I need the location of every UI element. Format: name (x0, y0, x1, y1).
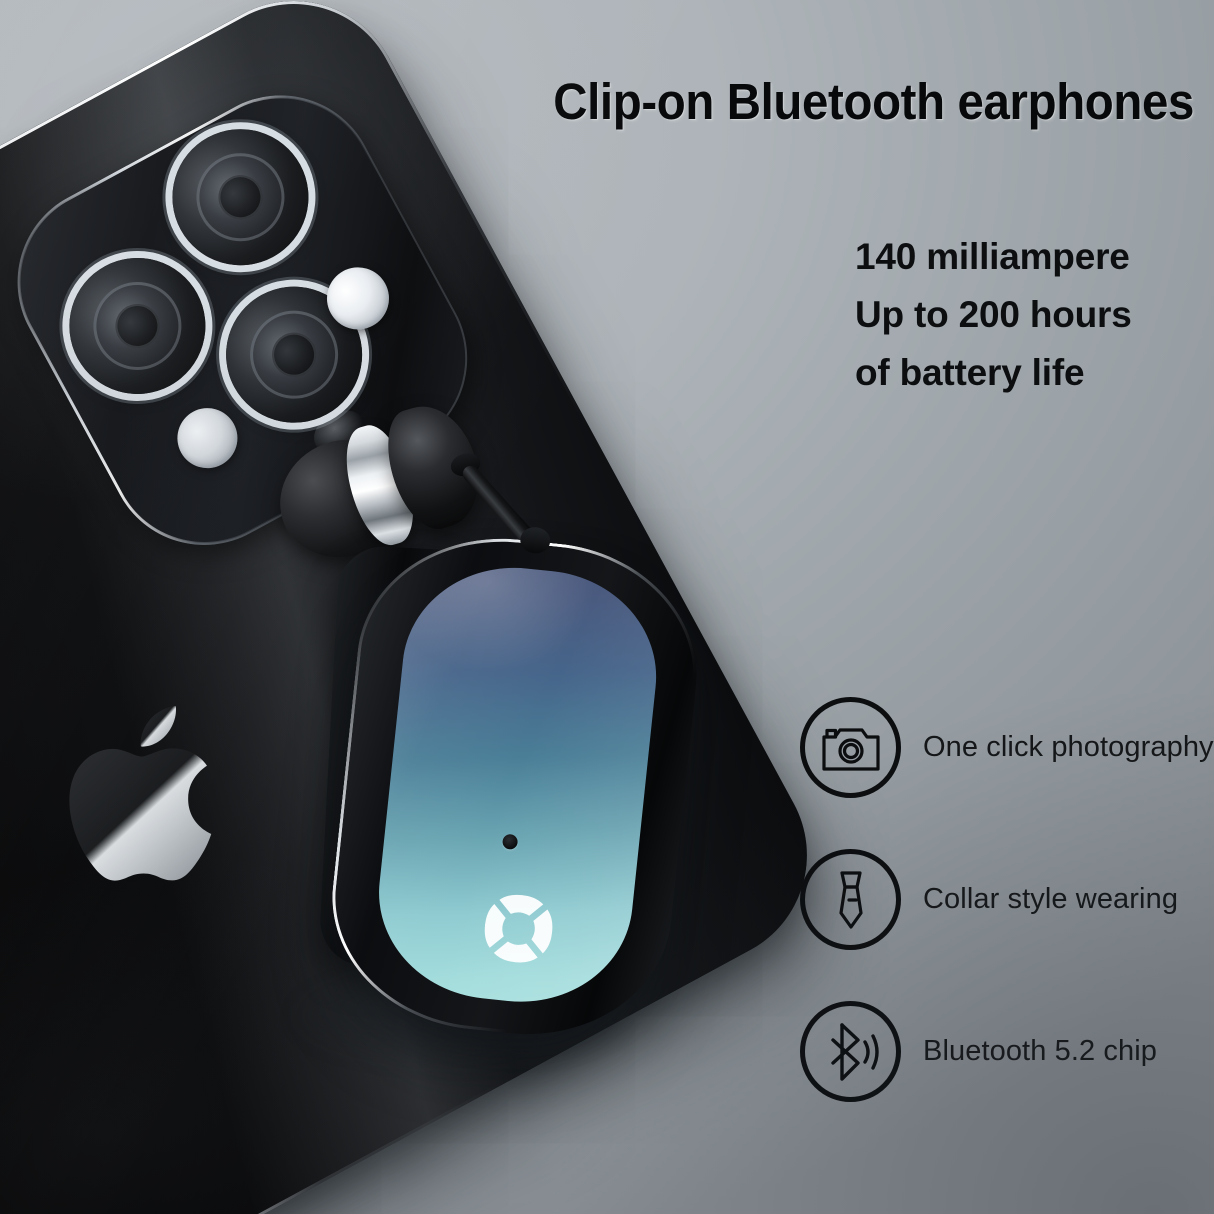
spec-line-battery: of battery life (855, 344, 1200, 402)
device-body (320, 524, 710, 1049)
feature-row-bluetooth: Bluetooth 5.2 chip (800, 1001, 1214, 1102)
spec-line-current: 140 milliampere (855, 228, 1200, 286)
bluetooth-icon (800, 1001, 901, 1102)
feature-list: One click photography Collar style weari… (800, 697, 1214, 1153)
camera-icon (800, 697, 901, 798)
clip-on-bluetooth-device (295, 522, 725, 1059)
device-face-panel (369, 557, 667, 1013)
apple-logo (48, 686, 244, 898)
feature-label-collar: Collar style wearing (923, 883, 1178, 916)
feature-row-collar: Collar style wearing (800, 849, 1214, 950)
spec-line-duration: Up to 200 hours (855, 286, 1200, 344)
product-poster: Clip-on Bluetooth earphones 140 milliamp… (0, 0, 1214, 1214)
feature-label-bluetooth: Bluetooth 5.2 chip (923, 1035, 1157, 1068)
battery-spec-block: 140 milliampere Up to 200 hours of batte… (855, 228, 1200, 402)
petal-mosaic-logo (472, 883, 566, 974)
page-title: Clip-on Bluetooth earphones (553, 72, 1194, 131)
necktie-icon (800, 849, 901, 950)
feature-label-photography: One click photography (923, 731, 1214, 764)
feature-row-photography: One click photography (800, 697, 1214, 798)
